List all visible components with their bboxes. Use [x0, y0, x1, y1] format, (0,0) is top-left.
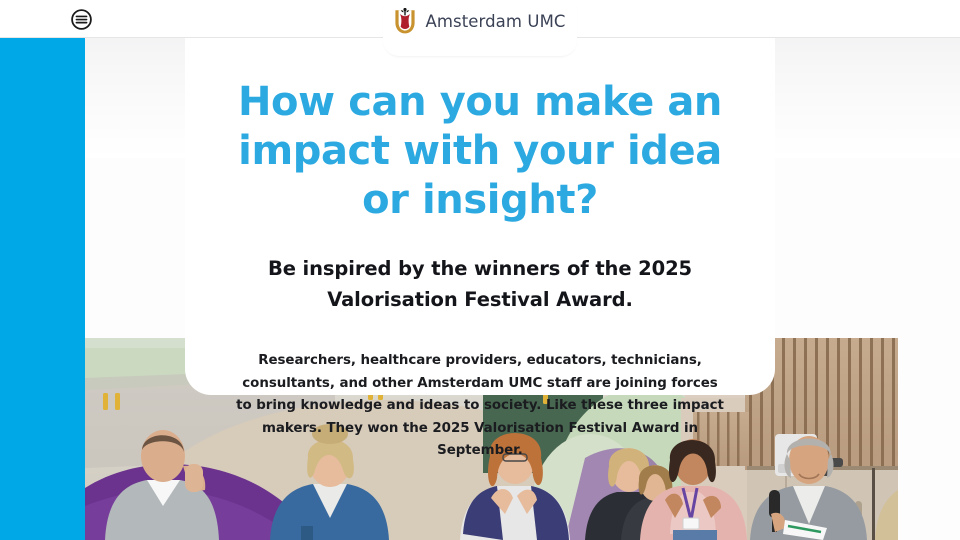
logo-wordmark: Amsterdam UMC — [425, 12, 565, 31]
hero-content-card: How can you make an impact with your ide… — [185, 38, 775, 395]
page-root: How can you make an impact with your ide… — [0, 0, 960, 540]
amsterdam-umc-tulip-shield-icon — [394, 8, 416, 35]
page-subtitle: Be inspired by the winners of the 2025 V… — [209, 253, 751, 315]
page-title: How can you make an impact with your ide… — [209, 78, 751, 225]
hamburger-circle-icon — [71, 9, 92, 30]
logo-home-link[interactable]: Amsterdam UMC — [383, 0, 577, 56]
hamburger-menu-button[interactable] — [71, 9, 92, 30]
intro-paragraph: Researchers, healthcare providers, educa… — [209, 350, 751, 463]
left-accent-rail — [0, 38, 85, 540]
